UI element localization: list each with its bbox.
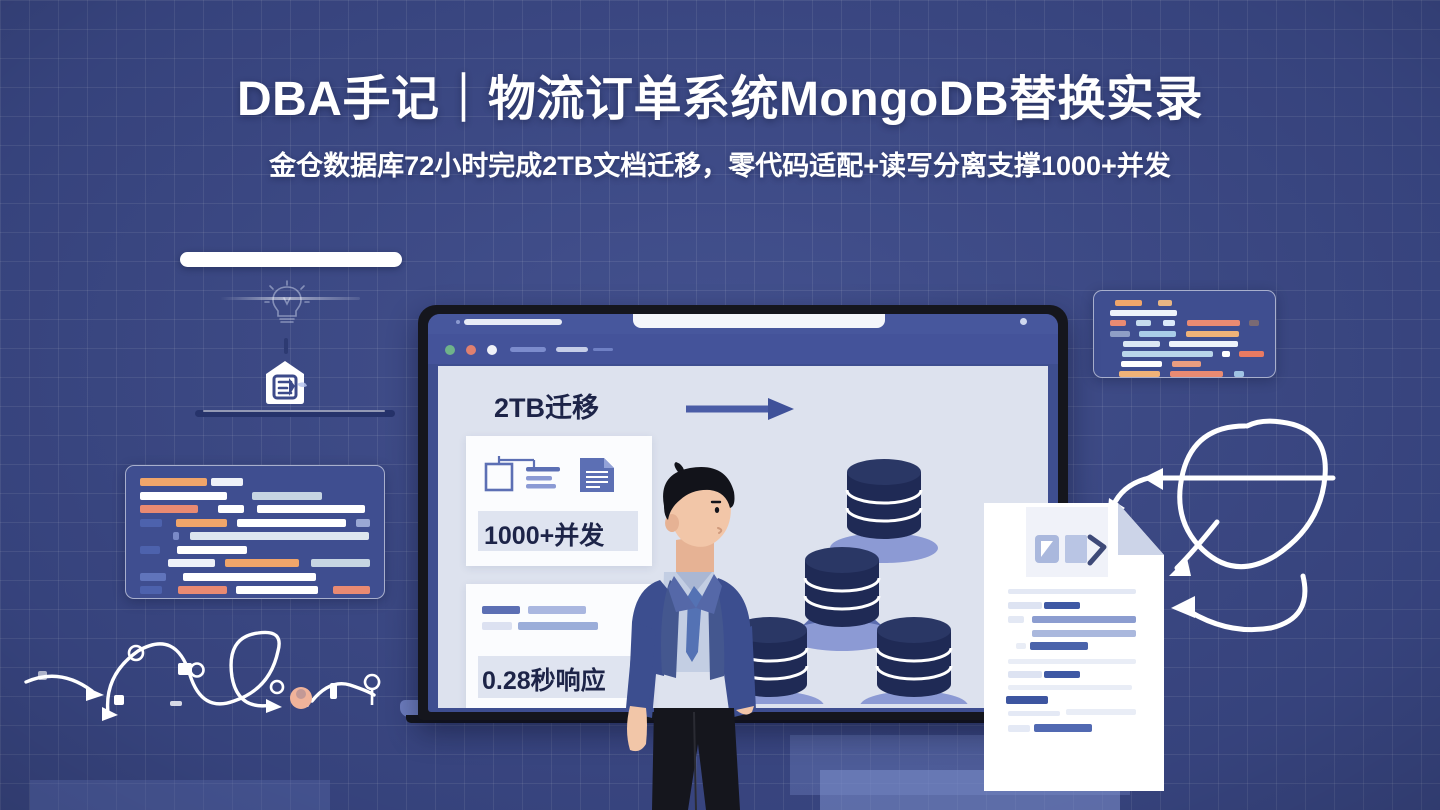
right-arrow-icon	[684, 396, 796, 422]
lightbulb-icon	[262, 278, 312, 328]
code-token	[1105, 341, 1119, 347]
code-token	[1134, 331, 1135, 337]
text-bar-1	[482, 606, 520, 614]
white-dot[interactable]	[487, 345, 497, 355]
code-token	[140, 559, 164, 567]
code-token	[225, 559, 298, 567]
code-token	[183, 573, 316, 581]
text-bar-4	[518, 622, 598, 630]
page-title: DBA手记｜物流订单系统MongoDB替换实录	[0, 72, 1440, 127]
latency-metric: 0.28秒响应	[482, 661, 606, 697]
code-token	[176, 519, 228, 527]
code-token	[1170, 371, 1223, 377]
migration-heading-text: 2TB迁移	[494, 393, 599, 423]
code-line	[140, 546, 370, 554]
code-token	[1121, 361, 1162, 367]
code-token	[1187, 320, 1240, 326]
code-token	[1179, 320, 1183, 326]
code-token	[322, 586, 329, 594]
code-line	[1105, 331, 1264, 337]
code-line	[1105, 351, 1264, 357]
code-token	[1222, 351, 1230, 357]
code-token	[1217, 351, 1219, 357]
code-token	[1234, 371, 1244, 377]
shop-house-icon	[261, 358, 309, 406]
code-token	[1110, 320, 1126, 326]
code-token	[1122, 351, 1212, 357]
code-token	[140, 546, 160, 554]
code-token	[1105, 300, 1111, 306]
code-token	[311, 559, 370, 567]
code-token	[1110, 310, 1177, 316]
code-token	[1105, 331, 1106, 337]
code-token	[1130, 320, 1132, 326]
code-line	[140, 573, 370, 581]
url-dot	[456, 320, 460, 324]
code-token	[1164, 341, 1165, 347]
camera-notch	[633, 314, 885, 328]
code-token	[231, 586, 232, 594]
code-token	[140, 532, 169, 540]
code-token	[350, 519, 352, 527]
code-line	[140, 519, 370, 527]
code-token	[1139, 331, 1176, 337]
code-token	[1155, 320, 1159, 326]
code-token	[1164, 371, 1166, 377]
code-token	[219, 559, 221, 567]
code-token	[333, 586, 370, 594]
data-table-icon	[482, 454, 632, 494]
code-token	[231, 519, 233, 527]
text-bar-3	[482, 622, 512, 630]
code-token	[140, 573, 166, 581]
code-token	[1105, 361, 1117, 367]
document-sheet	[978, 497, 1178, 797]
code-token	[1239, 351, 1264, 357]
code-token	[1234, 351, 1235, 357]
tab-placeholder-1[interactable]	[510, 347, 546, 352]
concurrency-metric: 1000+并发	[484, 516, 604, 552]
code-line	[140, 532, 370, 540]
code-token	[236, 586, 317, 594]
code-token	[1146, 300, 1154, 306]
code-token	[183, 532, 186, 540]
code-snippet-card-left	[125, 465, 385, 599]
code-snippet-card-right	[1093, 290, 1276, 378]
code-token	[140, 505, 198, 513]
code-token	[178, 586, 227, 594]
tab-placeholder-3[interactable]	[593, 348, 613, 351]
code-line	[140, 559, 370, 567]
red-dot[interactable]	[466, 345, 476, 355]
tab-placeholder-2[interactable]	[556, 347, 588, 352]
shelf-highlight	[203, 410, 385, 412]
code-token	[211, 478, 243, 486]
document-icon	[580, 458, 614, 492]
bulb-sheen	[220, 297, 360, 300]
code-token	[237, 519, 346, 527]
code-token	[177, 546, 247, 554]
code-token	[1172, 361, 1201, 367]
code-token	[356, 519, 370, 527]
database-cluster	[738, 454, 988, 704]
code-token	[1163, 320, 1175, 326]
code-token	[1249, 320, 1259, 326]
code-line	[1105, 320, 1264, 326]
code-token	[140, 478, 207, 486]
code-line	[1105, 371, 1264, 377]
code-line	[140, 505, 370, 513]
code-token	[1115, 300, 1142, 306]
code-token	[166, 519, 172, 527]
code-token	[248, 505, 254, 513]
browser-chrome-bar	[428, 334, 1058, 364]
code-line	[1105, 300, 1264, 306]
code-token	[231, 492, 248, 500]
code-line	[140, 586, 370, 594]
code-token	[140, 586, 162, 594]
text-bar-2	[528, 606, 586, 614]
code-token	[168, 559, 215, 567]
code-token	[140, 492, 227, 500]
code-token	[1105, 320, 1106, 326]
code-token	[190, 532, 370, 540]
code-token	[1169, 341, 1238, 347]
code-token	[1123, 341, 1160, 347]
code-token	[1166, 361, 1168, 367]
green-dot[interactable]	[445, 345, 455, 355]
route-squiggle	[20, 605, 400, 735]
migration-heading: 2TB迁移	[494, 386, 599, 425]
code-token	[166, 586, 173, 594]
code-token	[1119, 371, 1160, 377]
code-token	[1158, 300, 1172, 306]
code-token	[164, 546, 173, 554]
code-token	[1105, 310, 1106, 316]
businessman-illustration	[614, 462, 774, 810]
page-subtitle: 金仓数据库72小时完成2TB文档迁移，零代码适配+读写分离支撑1000+并发	[0, 144, 1440, 183]
code-token	[1110, 331, 1130, 337]
white-bar	[180, 252, 402, 267]
code-token	[1244, 320, 1245, 326]
code-token	[252, 492, 322, 500]
code-line	[140, 492, 370, 500]
code-token	[1186, 331, 1239, 337]
code-token	[170, 573, 179, 581]
code-token	[257, 505, 364, 513]
code-token	[202, 505, 214, 513]
code-line	[1105, 310, 1264, 316]
code-token	[1180, 331, 1182, 337]
code-token	[1136, 320, 1150, 326]
code-token	[303, 559, 307, 567]
poster-header: DBA手记｜物流订单系统MongoDB替换实录 金仓数据库72小时完成2TB文档…	[0, 0, 1440, 183]
camera-icon	[1020, 318, 1027, 325]
code-token	[1227, 371, 1230, 377]
code-line	[1105, 361, 1264, 367]
code-token	[218, 505, 244, 513]
icon-stem	[284, 338, 288, 354]
code-line	[1105, 341, 1264, 347]
code-line	[140, 478, 370, 486]
code-token	[1105, 371, 1115, 377]
notch-strip	[428, 314, 1058, 334]
code-token	[1105, 351, 1118, 357]
code-token	[173, 532, 179, 540]
code-token	[140, 519, 162, 527]
url-pill	[464, 319, 562, 325]
